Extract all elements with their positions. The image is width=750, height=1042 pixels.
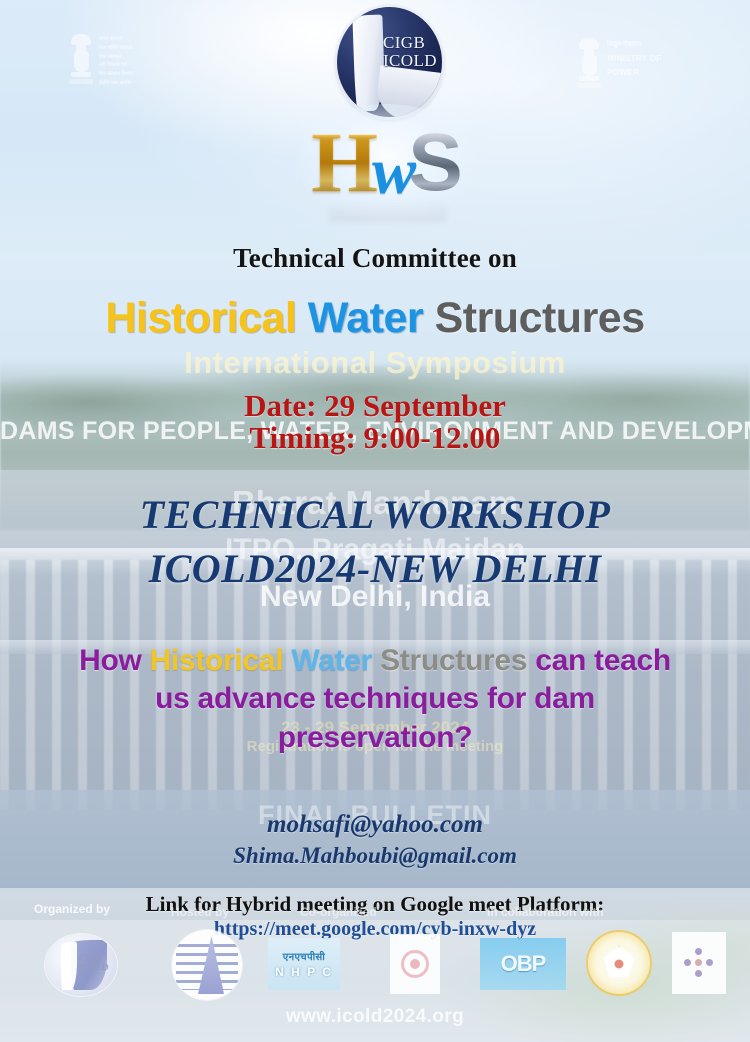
- ministry-of-power-text: विद्युत मंत्रालय MINISTRY OF POWER: [607, 38, 661, 79]
- emblem-left-line-6: केंद्रीय जल आयोग: [99, 80, 133, 87]
- question-part-canteach: can teach: [527, 644, 671, 677]
- committee-prefix: Technical Committee on: [0, 243, 750, 274]
- cbip-dam-logo-icon: [172, 930, 242, 1000]
- question-line-2: us advance techniques for dam: [0, 680, 750, 718]
- question-part-how: How: [79, 644, 149, 677]
- obp-logo-icon: OBP: [480, 938, 566, 990]
- emblem-right-block: विद्युत मंत्रालय MINISTRY OF POWER: [578, 38, 661, 90]
- title-word-water: Water: [308, 294, 423, 342]
- partner-captions: Organized by Hosted by Co-organized In c…: [0, 902, 750, 920]
- question-part-water: Water: [283, 644, 372, 677]
- question-part-historical: Historical: [150, 644, 284, 677]
- title-word-structures: Structures: [435, 294, 645, 342]
- partner-icold-line-2: ICOLD: [79, 963, 109, 972]
- workshop-title-line-2: ICOLD2024-NEW DELHI: [0, 545, 750, 592]
- title-word-historical: Historical: [105, 294, 296, 342]
- caption-in-collaboration-with: In collaboration with: [487, 905, 604, 919]
- question-part-structures: Structures: [372, 644, 527, 677]
- hws-logo: H w S: [277, 112, 497, 214]
- ministry-hindi-label: विद्युत मंत्रालय: [607, 40, 661, 50]
- caption-organized-by: Organized by: [34, 902, 110, 916]
- cigb-icold-logo-icon: CIGB ICOLD: [337, 7, 442, 117]
- icold-logo-line-1: CIGB: [383, 34, 441, 52]
- caption-co-organized: Co-organized: [300, 905, 377, 919]
- seal-logo-icon: [588, 932, 650, 994]
- workshop-question: How Historical Water Structures can teac…: [0, 642, 750, 757]
- icold-logo-line-2: ICOLD: [383, 52, 441, 70]
- partner-logo-icon: [672, 932, 726, 994]
- partner-logos-row: CIGB ICOLD एनएचपीसी N H P C OBP: [0, 928, 750, 1000]
- emblem-left-line-3: जल संसाधन,: [99, 54, 133, 61]
- hws-letter-s: S: [408, 126, 463, 200]
- emblem-left-block: भारत सरकार जल शक्ति मंत्रालय जल संसाधन, …: [70, 34, 133, 87]
- nhpc-label: N H P C: [275, 965, 333, 979]
- ministry-line-1: MINISTRY OF: [607, 52, 661, 64]
- event-timing: Timing: 9:00-12.00: [0, 420, 750, 456]
- cigb-icold-partner-logo-icon: CIGB ICOLD: [45, 934, 117, 996]
- emblem-left-line-5: गंगा संरक्षण विभाग: [99, 71, 133, 78]
- ministry-line-2: POWER: [607, 66, 661, 78]
- india-national-emblem-icon: [578, 38, 600, 90]
- emblem-left-line-1: भारत सरकार: [99, 36, 133, 43]
- page-title: Historical Water Structures: [0, 294, 750, 343]
- question-line-3: preservation?: [0, 719, 750, 757]
- nhpc-logo-icon: एनएचपीसी N H P C: [268, 938, 340, 990]
- emblem-left-line-4: नदी विकास एवं: [99, 62, 133, 69]
- workshop-title-line-1: TECHNICAL WORKSHOP: [0, 491, 750, 538]
- contact-email-1[interactable]: mohsafi@yahoo.com: [0, 811, 750, 839]
- emblem-left-line-2: जल शक्ति मंत्रालय: [99, 45, 133, 52]
- nhpc-hindi-label: एनएचपीसी: [283, 949, 325, 963]
- sjvn-logo-icon: [390, 934, 440, 994]
- india-national-emblem-icon: [70, 34, 92, 86]
- event-date: Date: 29 September: [0, 388, 750, 424]
- question-line-1: How Historical Water Structures can teac…: [0, 642, 750, 680]
- hws-letter-h: H: [311, 124, 378, 201]
- contact-email-2[interactable]: Shima.Mahboubi@gmail.com: [0, 843, 750, 869]
- obp-label: OBP: [501, 951, 546, 977]
- poster-canvas: International Symposium DAMS FOR PEOPLE,…: [0, 0, 750, 1042]
- emblem-left-text: भारत सरकार जल शक्ति मंत्रालय जल संसाधन, …: [99, 34, 133, 87]
- caption-hosted-by: Hosted by: [171, 905, 229, 919]
